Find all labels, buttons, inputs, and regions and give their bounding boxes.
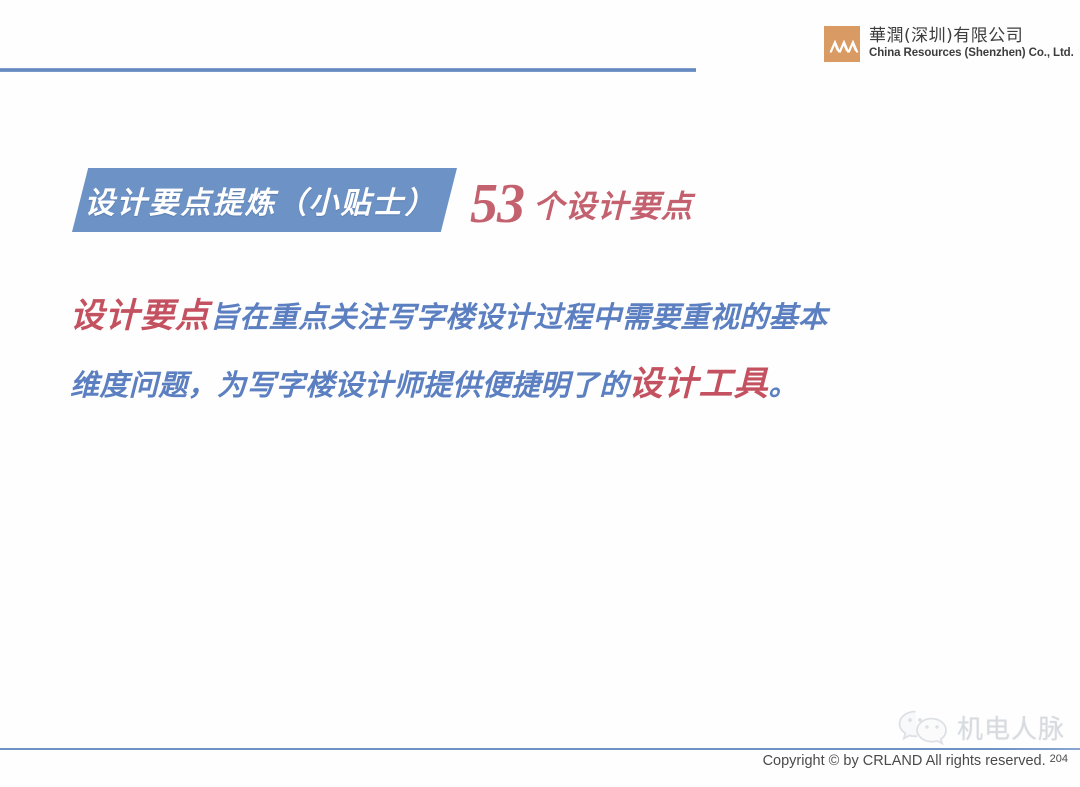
header-divider-rule (0, 68, 696, 72)
highlight-count-unit: 个设计要点 (533, 181, 693, 226)
company-name-en: China Resources (Shenzhen) Co., Ltd. (869, 48, 1074, 60)
section-banner-label: 设计要点提炼（小贴士） (85, 178, 437, 222)
paragraph-line-1: 设计要点旨在重点关注写字楼设计过程中需要重视的基本 (70, 285, 870, 353)
highlight-count-number: 53 (470, 176, 524, 232)
paragraph-line-1-text: 旨在重点关注写字楼设计过程中需要重视的基本 (210, 300, 827, 334)
watermark: 机电人脉 (895, 705, 1065, 750)
slide-canvas: 華潤(深圳)有限公司 China Resources (Shenzhen) Co… (0, 0, 1080, 787)
paragraph-line-2-period: 。 (769, 368, 798, 402)
brand-text-block: 華潤(深圳)有限公司 China Resources (Shenzhen) Co… (869, 28, 1074, 60)
company-name-cn: 華潤(深圳)有限公司 (869, 28, 1074, 45)
body-paragraph: 设计要点旨在重点关注写字楼设计过程中需要重视的基本 维度问题，为写字楼设计师提供… (70, 285, 870, 421)
paragraph-emphasis-lead: 设计要点 (70, 296, 210, 336)
section-heading-row: 设计要点提炼（小贴士） 53 个设计要点 (0, 168, 1080, 236)
paragraph-emphasis-tail: 设计工具 (629, 364, 769, 404)
footer-divider-rule (0, 748, 1080, 750)
brand-header: 華潤(深圳)有限公司 China Resources (Shenzhen) Co… (824, 26, 1074, 62)
crland-mountain-logo-icon (824, 26, 860, 62)
footer-copyright: Copyright © by CRLAND All rights reserve… (763, 753, 1068, 769)
wechat-icon (895, 705, 951, 750)
paragraph-line-2: 维度问题，为写字楼设计师提供便捷明了的设计工具。 (70, 353, 870, 421)
page-number: 204 (1050, 753, 1068, 765)
highlight-count: 53 个设计要点 (470, 168, 693, 232)
section-banner: 设计要点提炼（小贴士） (72, 168, 457, 232)
copyright-text: Copyright © by CRLAND All rights reserve… (763, 753, 1046, 769)
paragraph-line-2-text: 维度问题，为写字楼设计师提供便捷明了的 (70, 368, 629, 402)
watermark-label: 机电人脉 (957, 709, 1065, 746)
